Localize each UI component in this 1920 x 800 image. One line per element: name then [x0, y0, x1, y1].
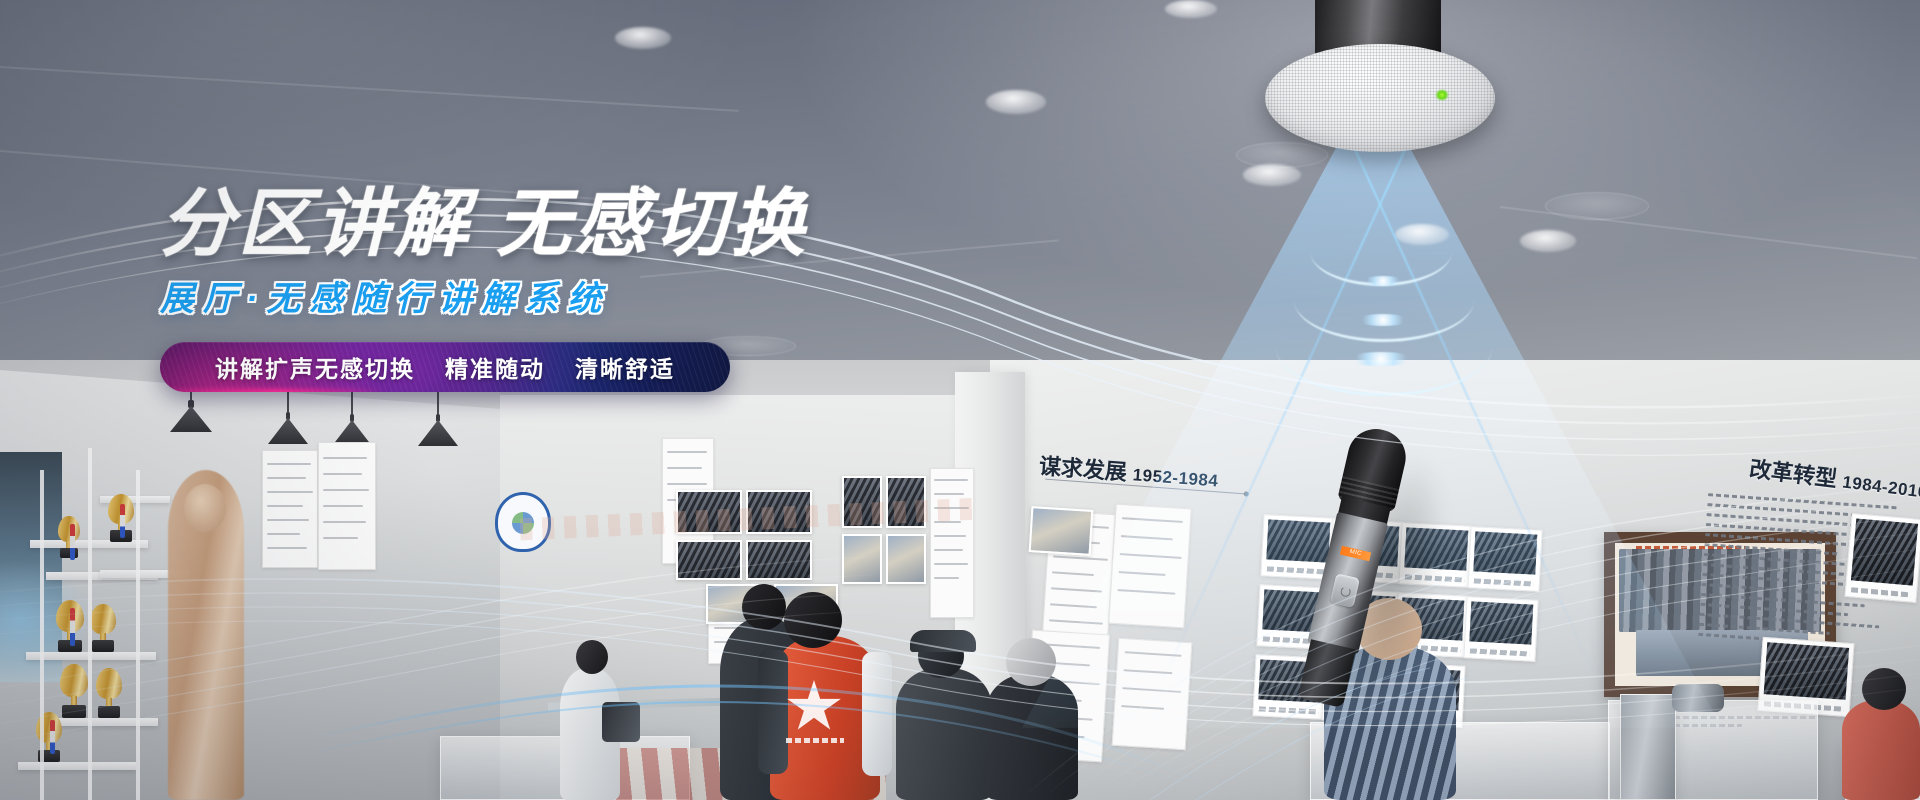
microphone-tail — [1298, 639, 1356, 708]
trophy-shelf — [54, 718, 158, 726]
banner-copy: 分区讲解 无感切换 展厅·无感随行讲解系统 讲解扩声无感切换 精准随动 清晰舒适 — [160, 186, 1000, 392]
medal-ribbon — [70, 608, 75, 646]
feature-item-2: 精准随动 — [445, 350, 545, 384]
trophy — [90, 604, 116, 652]
ceiling-downlight — [1165, 0, 1217, 18]
exhibit-photo — [886, 534, 926, 584]
shelf-support — [88, 448, 92, 800]
visitor-head — [576, 640, 608, 674]
shelf-support — [40, 470, 44, 800]
banner-headline: 分区讲解 无感切换 — [160, 186, 1000, 261]
speaker-status-led — [1435, 90, 1449, 100]
visitor-head — [1862, 668, 1906, 710]
visitor-cap — [910, 630, 976, 652]
exhibit-photo — [842, 534, 882, 584]
trophy — [60, 664, 88, 718]
exhibit-board — [318, 442, 376, 570]
exhibit-photo — [746, 540, 812, 580]
promo-banner: 谋求发展1952-1984 改革转型1984-2010 — [0, 0, 1920, 800]
tour-guide-sleeve — [758, 650, 788, 774]
ceiling-vent — [1236, 142, 1328, 168]
visitor — [896, 668, 992, 800]
exhibit-board — [262, 450, 318, 568]
vest-logo-text — [786, 738, 844, 743]
exhibit-photo — [1029, 506, 1094, 556]
tour-guide-head — [784, 592, 842, 648]
feature-pill: 讲解扩声无感切换 精准随动 清晰舒适 — [160, 342, 730, 392]
figure-statue — [168, 470, 244, 800]
exhibit-photo — [1844, 513, 1920, 603]
exhibit-text-panel — [930, 468, 974, 618]
exhibit-photo — [676, 540, 742, 580]
ceiling-downlight — [986, 90, 1046, 114]
visitor-bag — [602, 702, 640, 742]
ceiling-vent — [1545, 192, 1649, 220]
tour-guide-sleeve — [862, 652, 892, 776]
feature-item-3: 清晰舒适 — [575, 350, 675, 384]
ceiling-speaker[interactable] — [1265, 44, 1495, 152]
shelf-support — [136, 470, 140, 800]
medal-ribbon — [120, 504, 125, 538]
trophy-shelf — [18, 762, 136, 770]
banner-subheadline: 展厅·无感随行讲解系统 — [160, 271, 1000, 320]
ceiling-downlight — [615, 27, 671, 49]
visitor-head — [1006, 638, 1056, 686]
sound-wave-arc — [1276, 300, 1492, 396]
medal-ribbon — [70, 524, 75, 560]
ceiling-downlight — [1520, 230, 1576, 252]
sound-wave-highlight — [1348, 352, 1414, 366]
trophy — [96, 668, 122, 718]
medal-ribbon — [50, 720, 55, 754]
visitor — [1842, 700, 1920, 800]
visitor-head — [742, 584, 786, 630]
trophy — [58, 516, 80, 558]
feature-item-1: 讲解扩声无感切换 — [215, 350, 415, 384]
